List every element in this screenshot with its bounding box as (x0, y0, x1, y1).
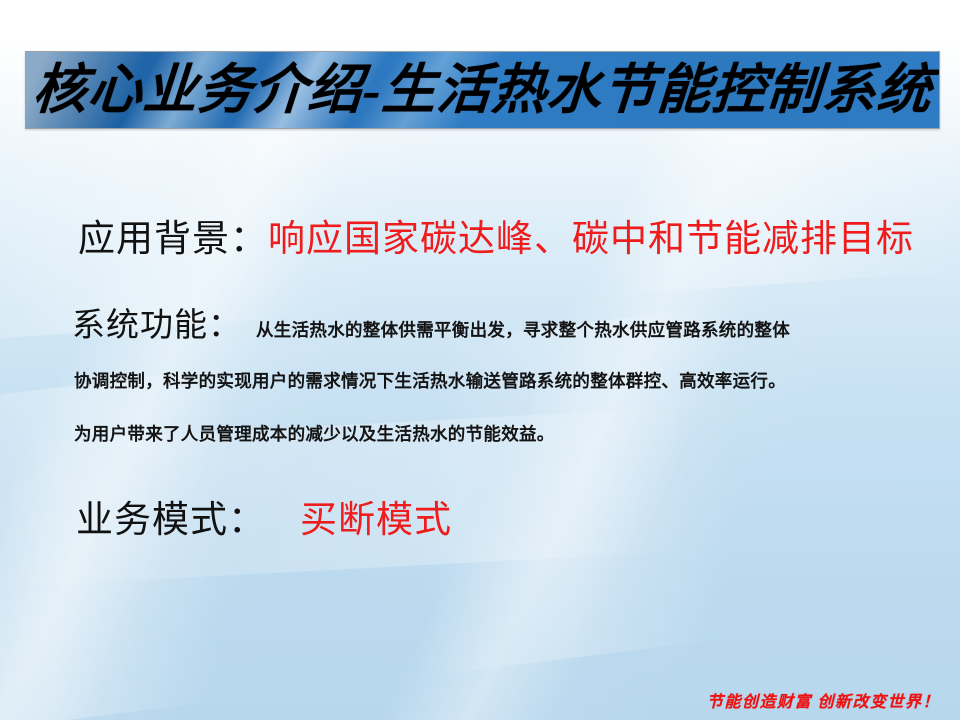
section-system-function: 系统功能： 从生活热水的整体供需平衡出发，寻求整个热水供应管路系统的整体 (72, 298, 790, 346)
system-function-line-1: 从生活热水的整体供需平衡出发，寻求整个热水供应管路系统的整体 (256, 317, 790, 342)
application-background-value: 响应国家碳达峰、碳中和节能减排目标 (268, 219, 914, 260)
system-function-paragraph-2: 协调控制，科学的实现用户的需求情况下生活热水输送管路系统的整体群控、高效率运行。 (74, 368, 786, 393)
business-mode-value: 买断模式 (300, 500, 452, 541)
slide-content: 应用背景：响应国家碳达峰、碳中和节能减排目标 系统功能： 从生活热水的整体供需平… (0, 0, 960, 720)
system-function-label: 系统功能： (72, 298, 242, 346)
business-mode-label: 业务模式： (76, 500, 266, 541)
system-function-line-2: 协调控制，科学的实现用户的需求情况下生活热水输送管路系统的整体群控、高效率运行。 (74, 371, 786, 391)
section-business-mode: 业务模式：买断模式 (76, 489, 452, 543)
system-function-line-3: 为用户带来了人员管理成本的减少以及生活热水的节能效益。 (74, 424, 555, 444)
footer-slogan: 节能创造财富 创新改变世界！ (707, 688, 940, 712)
slide-root: 核心业务介绍-生活热水节能控制系统 应用背景：响应国家碳达峰、碳中和节能减排目标… (0, 0, 960, 720)
system-function-paragraph-3: 为用户带来了人员管理成本的减少以及生活热水的节能效益。 (74, 421, 555, 446)
section-application-background: 应用背景：响应国家碳达峰、碳中和节能减排目标 (78, 208, 914, 262)
application-background-label: 应用背景： (78, 219, 268, 260)
